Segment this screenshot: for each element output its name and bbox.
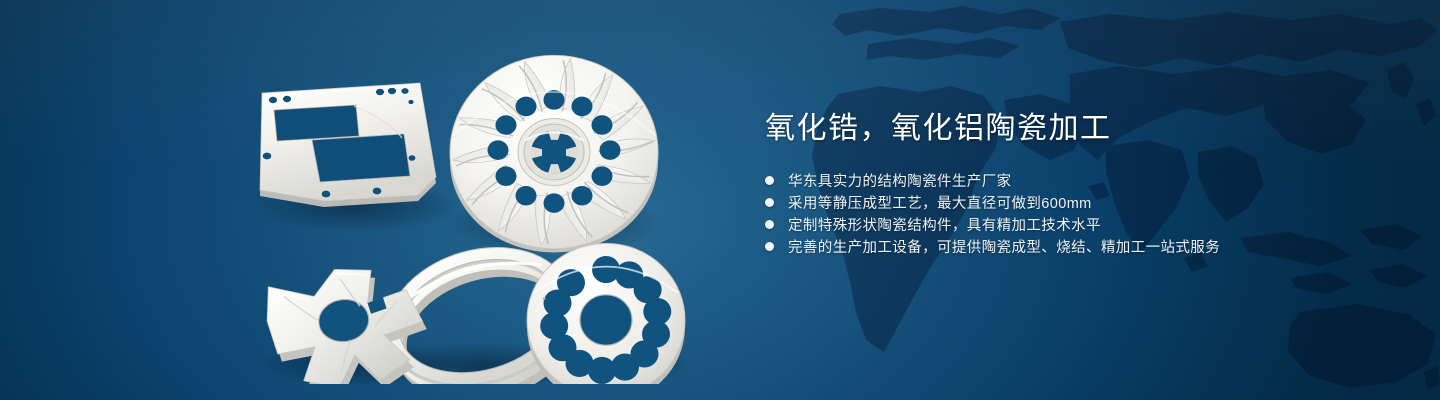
bullet-dot-icon [765, 198, 774, 207]
list-item: 完善的生产加工设备，可提供陶瓷成型、烧结、精加工一站式服务 [765, 235, 1325, 257]
banner: 氧化锆，氧化铝陶瓷加工 华东具实力的结构陶瓷件生产厂家 采用等静压成型工艺，最大… [0, 0, 1440, 400]
feature-text: 定制特殊形状陶瓷结构件，具有精加工技术水平 [788, 214, 1101, 235]
ceramic-vaned-impeller [450, 55, 658, 252]
banner-title: 氧化锆，氧化铝陶瓷加工 [765, 110, 1325, 148]
list-item: 华东具实力的结构陶瓷件生产厂家 [765, 169, 1325, 191]
ceramic-mounting-plate [260, 83, 436, 207]
feature-text: 完善的生产加工设备，可提供陶瓷成型、烧结、精加工一站式服务 [788, 236, 1220, 257]
bullet-dot-icon [765, 176, 774, 185]
feature-text: 采用等静压成型工艺，最大直径可做到600mm [788, 192, 1092, 213]
list-item: 采用等静压成型工艺，最大直径可做到600mm [765, 191, 1325, 213]
list-item: 定制特殊形状陶瓷结构件，具有精加工技术水平 [765, 213, 1325, 235]
banner-copy: 氧化锆，氧化铝陶瓷加工 华东具实力的结构陶瓷件生产厂家 采用等静压成型工艺，最大… [765, 110, 1325, 257]
bullet-dot-icon [765, 220, 774, 229]
bullet-dot-icon [765, 242, 774, 251]
ceramic-products-photo [236, 34, 696, 384]
feature-list: 华东具实力的结构陶瓷件生产厂家 采用等静压成型工艺，最大直径可做到600mm 定… [765, 169, 1325, 257]
feature-text: 华东具实力的结构陶瓷件生产厂家 [788, 170, 1012, 191]
